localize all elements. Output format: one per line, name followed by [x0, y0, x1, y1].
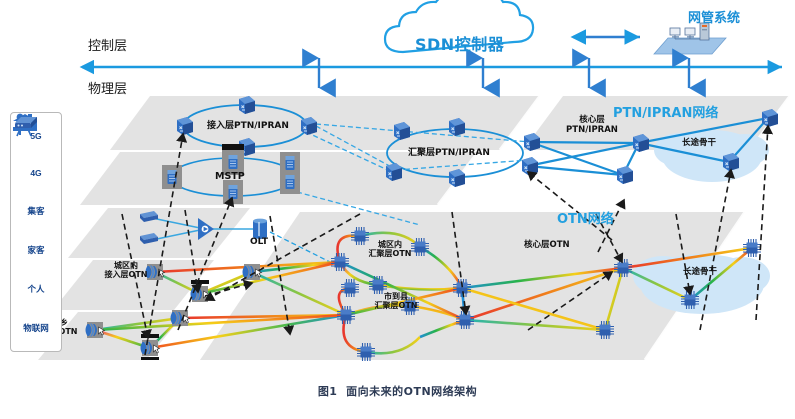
network-diagram-svg — [0, 0, 795, 419]
figure-caption: 图1 面向未来的OTN网络架构 — [0, 386, 795, 399]
legend-label-home: 家客 — [27, 244, 44, 256]
ptn-backbone-label: 长途骨干 — [682, 139, 716, 149]
olt-label: OLT — [250, 237, 268, 247]
legend-item-iot: 物联网 — [23, 322, 49, 334]
ptn-network-title: PTN/IPRAN网络 — [613, 107, 718, 122]
slab-access-ptn — [110, 96, 540, 150]
legend-item-home: 家客 — [27, 244, 44, 256]
legend-label-enterprise: 集客 — [27, 205, 44, 217]
aggregation-ptn-ring-label: 汇聚层PTN/IPRAN — [408, 148, 490, 158]
physical-layer-label: 物理层 — [88, 83, 127, 98]
legend-label-personal: 个人 — [27, 283, 44, 295]
sdn-controller-label: SDN控制器 — [415, 36, 504, 54]
mstp-label: MSTP — [215, 172, 245, 183]
slab-mstp — [80, 152, 478, 205]
otn-agg-county-label: 市到县 汇聚层OTN — [365, 292, 427, 310]
otn-access-urban-label: 城区内 接入层OTN — [95, 261, 157, 279]
nms-server-icon — [654, 23, 726, 54]
control-layer-label: 控制层 — [88, 40, 127, 55]
otn-backbone-label: 长途骨干 — [683, 268, 717, 278]
iot-gateway-icon — [11, 113, 41, 131]
legend-item-personal: 个人 — [27, 283, 44, 295]
core-ptn-label: 核心层 PTN/IPRAN — [557, 116, 627, 136]
olt-icon — [253, 219, 267, 239]
legend-label-4g: 4G — [30, 168, 41, 178]
legend-item-enterprise: 集客 — [27, 205, 44, 217]
access-ptn-ring-label: 接入层PTN/IPRAN — [207, 121, 289, 131]
otn-network-title: OTN网络 — [557, 213, 614, 228]
legend-label-iot: 物联网 — [23, 322, 49, 334]
otn-agg-urban-label: 城区内 汇聚层OTN — [359, 240, 421, 258]
otn-core-label: 核心层OTN — [524, 241, 570, 251]
nms-label: 网管系统 — [688, 12, 740, 27]
slab-otn-onu — [68, 208, 250, 258]
legend-item-4g: 4G — [30, 168, 41, 178]
figure-canvas: 控制层 物理层 SDN控制器 网管系统 PTN/IPRAN网络 OTN网络 接入… — [0, 0, 795, 419]
control-physical-arrows — [319, 58, 689, 88]
service-legend-panel: 5G 4G 集客 — [10, 112, 62, 352]
